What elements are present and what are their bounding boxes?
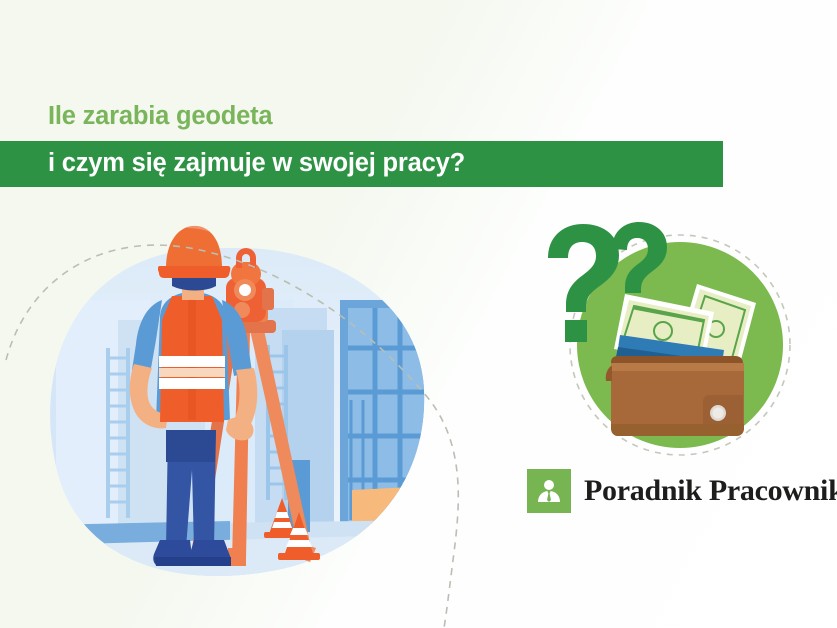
background-base <box>0 0 837 628</box>
person-with-tie-icon <box>527 469 571 513</box>
headline-block: Ile zarabia geodeta i czym się zajmuje w… <box>0 104 837 187</box>
brand-logo-text: Poradnik Pracownika <box>584 474 837 508</box>
headline-line-2: i czym się zajmuje w swojej pracy? <box>0 151 465 177</box>
headline-line-1: Ile zarabia geodeta <box>0 104 837 130</box>
brand-logo[interactable]: Poradnik Pracownika <box>527 469 837 513</box>
poster-root: CREDIT CARD Ile zarabia geodeta i czym s… <box>0 0 837 628</box>
headline-green-bar: i czym się zajmuje w swojej pracy? <box>0 141 723 187</box>
